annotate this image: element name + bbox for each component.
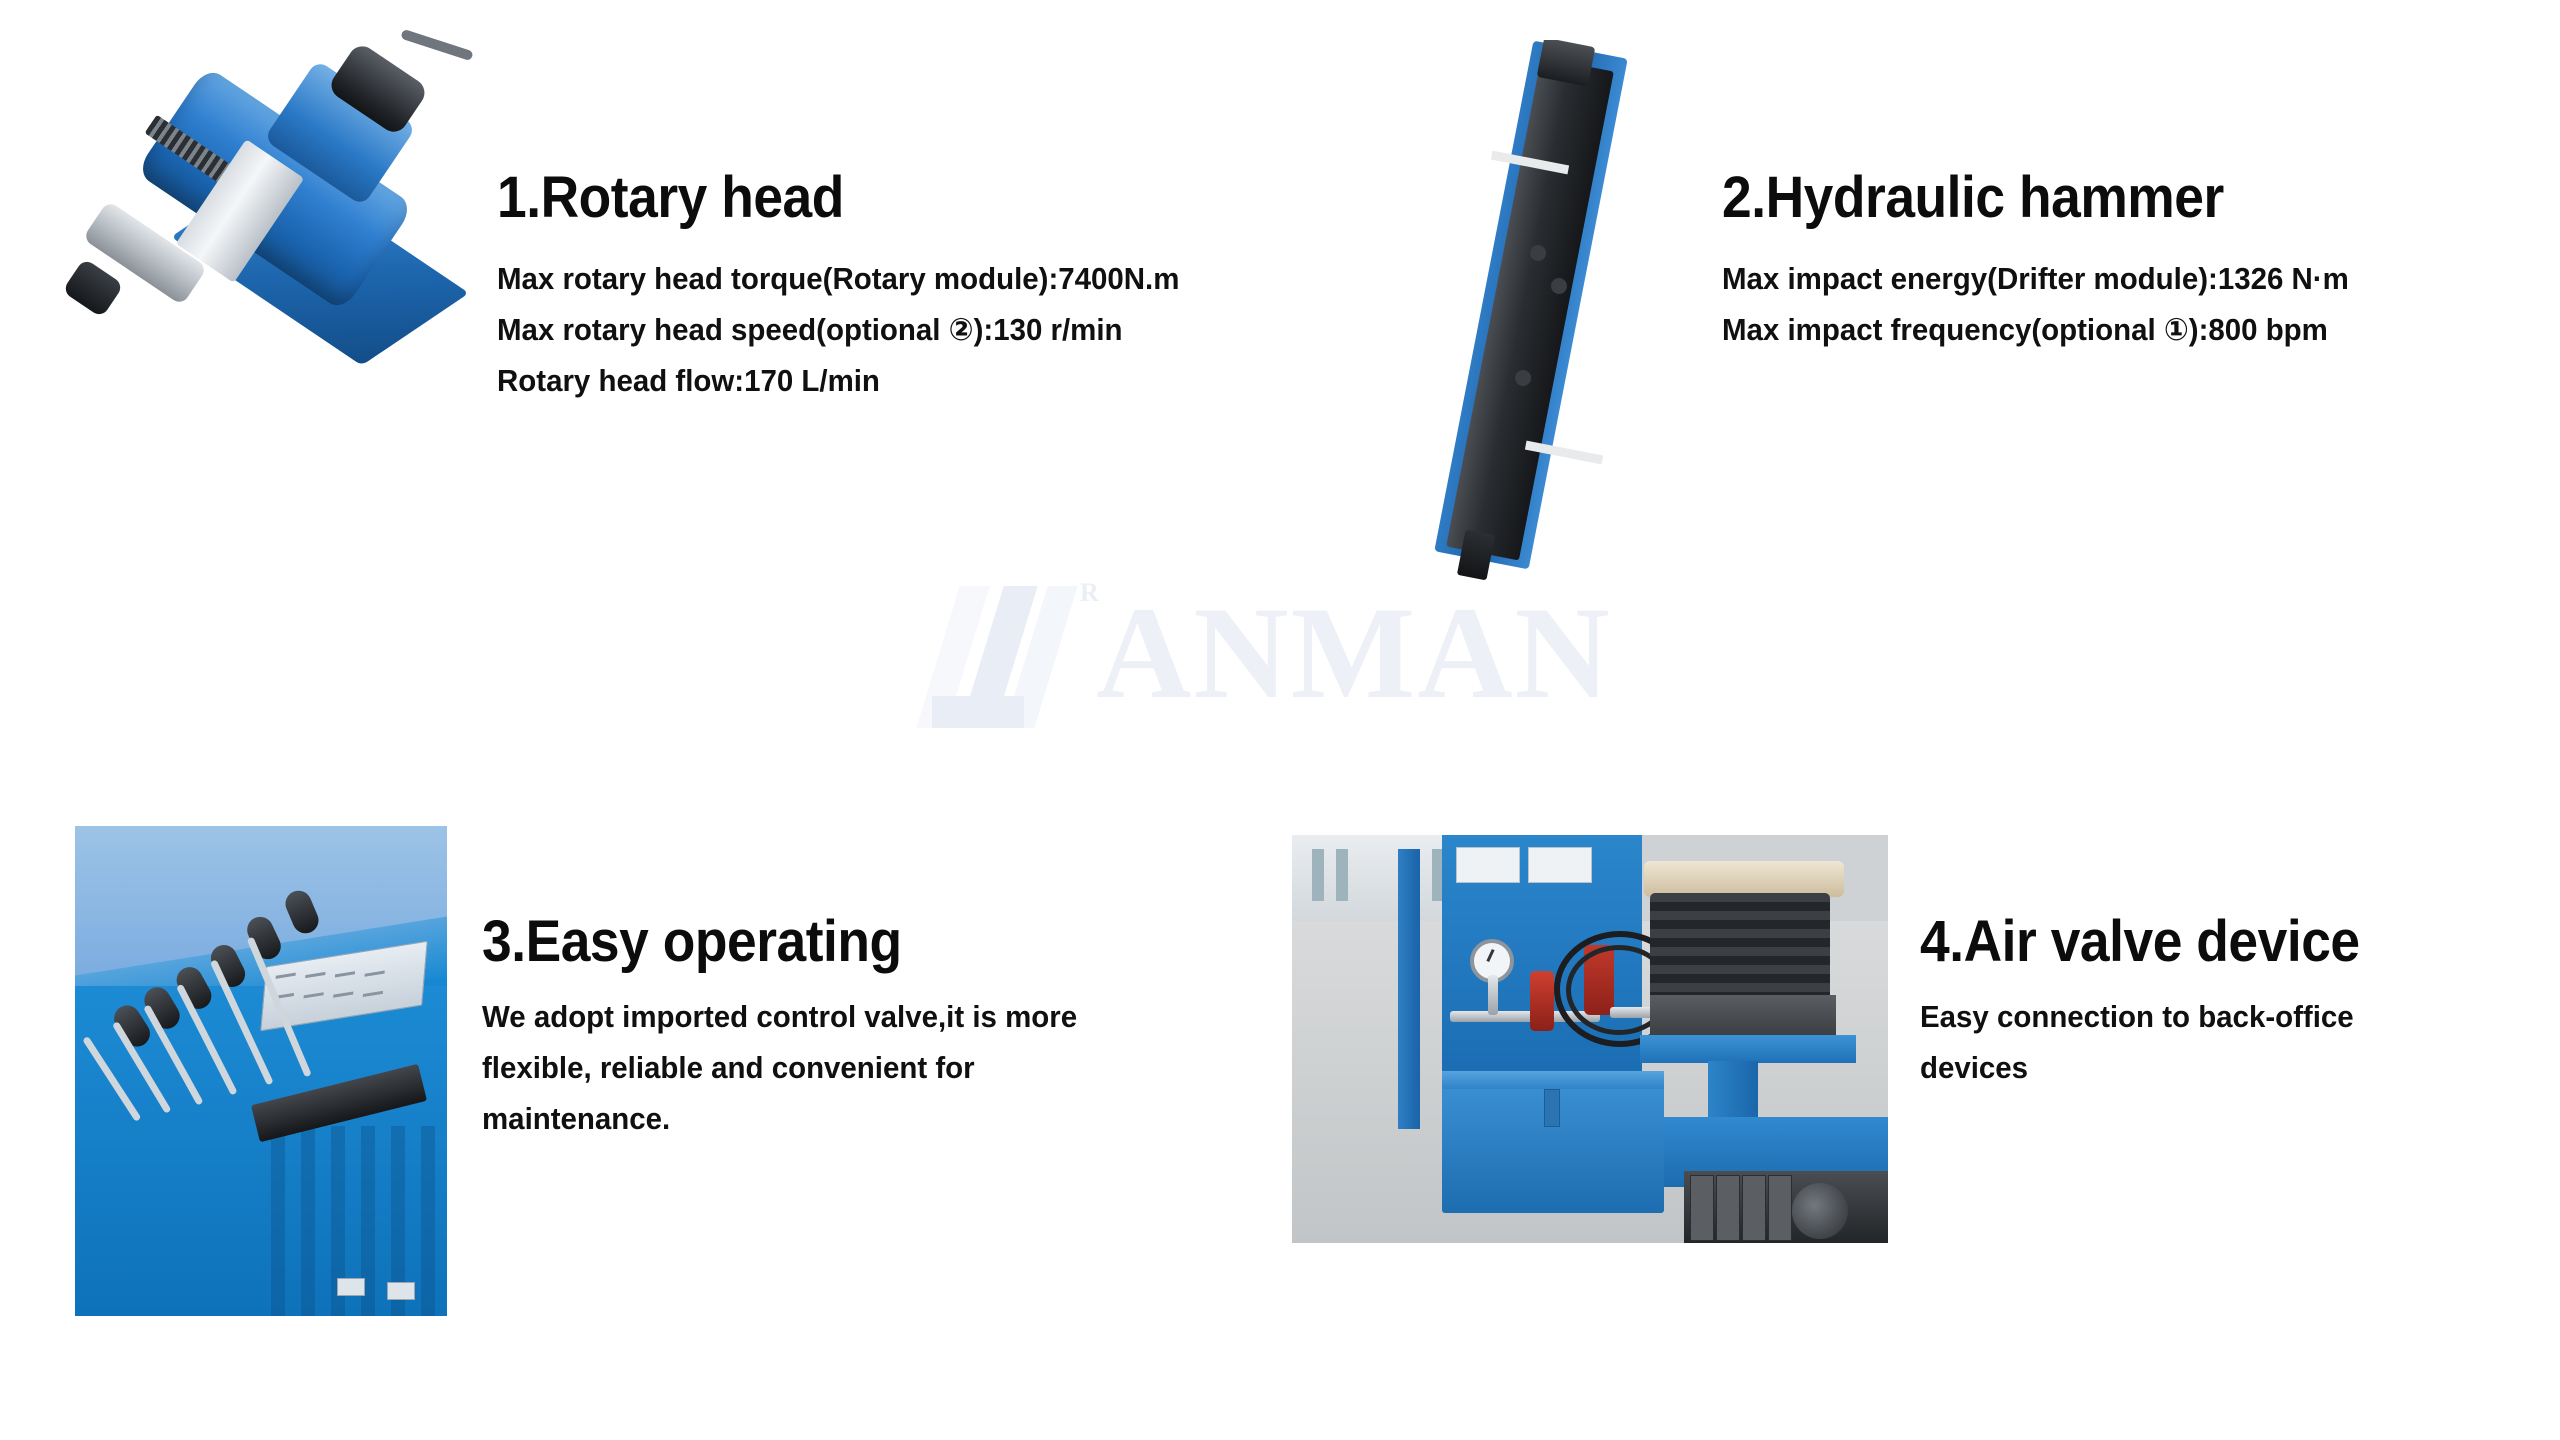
section-specs-hydraulic-hammer: Max impact energy(Drifter module):1326 N… <box>1722 253 2349 355</box>
hydraulic-hammer-photo <box>1365 40 1695 580</box>
section-air-valve-device: 4.Air valve device Easy connection to ba… <box>1920 912 2520 1093</box>
registered-trademark-icon: R <box>1080 578 1099 608</box>
section-title-air-valve-device: 4.Air valve device <box>1920 912 2472 973</box>
control-levers-photo <box>75 826 447 1316</box>
product-feature-sheet: R ANMAN 1.Rotary head Max rotary head to… <box>0 0 2560 1440</box>
air-valve-photo <box>1292 835 1888 1243</box>
rotary-head-photo <box>55 30 535 370</box>
section-specs-easy-operating: We adopt imported control valve,it is mo… <box>482 991 1138 1144</box>
section-title-hydraulic-hammer: 2.Hydraulic hammer <box>1722 168 2329 229</box>
section-title-rotary-head: 1.Rotary head <box>497 168 1158 229</box>
section-rotary-head: 1.Rotary head Max rotary head torque(Rot… <box>497 168 1215 406</box>
section-title-easy-operating: 3.Easy operating <box>482 912 1126 973</box>
section-specs-air-valve-device: Easy connection to back-office devices <box>1920 991 2452 1093</box>
anman-watermark: R ANMAN <box>930 575 1670 730</box>
section-specs-rotary-head: Max rotary head torque(Rotary module):74… <box>497 253 1179 406</box>
section-hydraulic-hammer: 2.Hydraulic hammer Max impact energy(Dri… <box>1722 168 2382 355</box>
section-easy-operating: 3.Easy operating We adopt imported contr… <box>482 912 1182 1144</box>
anman-a-logo-icon: R <box>930 578 1090 728</box>
watermark-brand-text: ANMAN <box>1096 587 1612 719</box>
